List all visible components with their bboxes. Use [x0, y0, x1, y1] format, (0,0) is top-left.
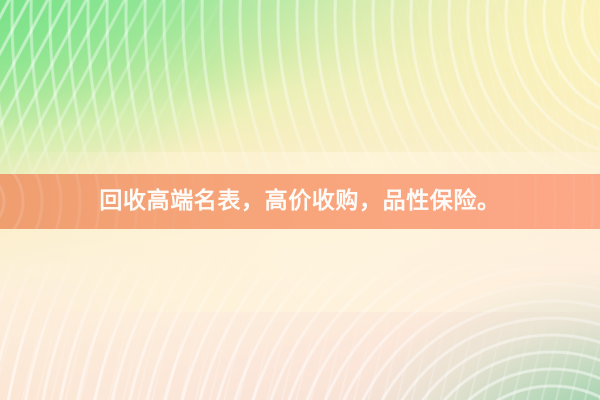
promo-banner: 回收高端名表，高价收购，品性保险。: [0, 0, 600, 400]
headline-band: 回收高端名表，高价收购，品性保险。: [0, 174, 600, 229]
headline-text: 回收高端名表，高价收购，品性保险。: [99, 190, 500, 213]
